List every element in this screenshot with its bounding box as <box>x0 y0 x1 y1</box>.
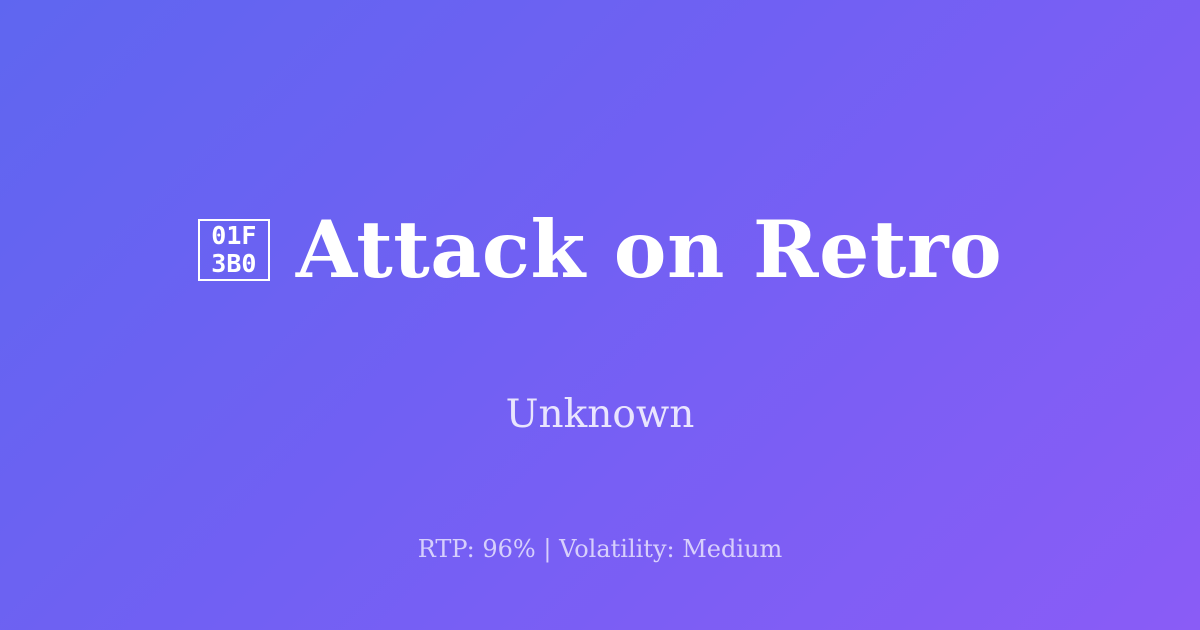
page-title: Attack on Retro <box>296 208 1002 292</box>
tofu-codepoint-line-1: 01F <box>211 222 256 250</box>
hero-block: 01F 3B0 Attack on Retro Unknown <box>0 155 1200 439</box>
og-share-card: 01F 3B0 Attack on Retro Unknown RTP: 96%… <box>0 0 1200 630</box>
slot-machine-icon: 01F 3B0 <box>198 219 270 281</box>
tofu-codepoint-line-2: 3B0 <box>211 250 256 278</box>
title-row: 01F 3B0 Attack on Retro <box>0 155 1200 345</box>
provider-subtitle: Unknown <box>506 392 695 439</box>
game-stats-footer: RTP: 96% | Volatility: Medium <box>0 535 1200 564</box>
